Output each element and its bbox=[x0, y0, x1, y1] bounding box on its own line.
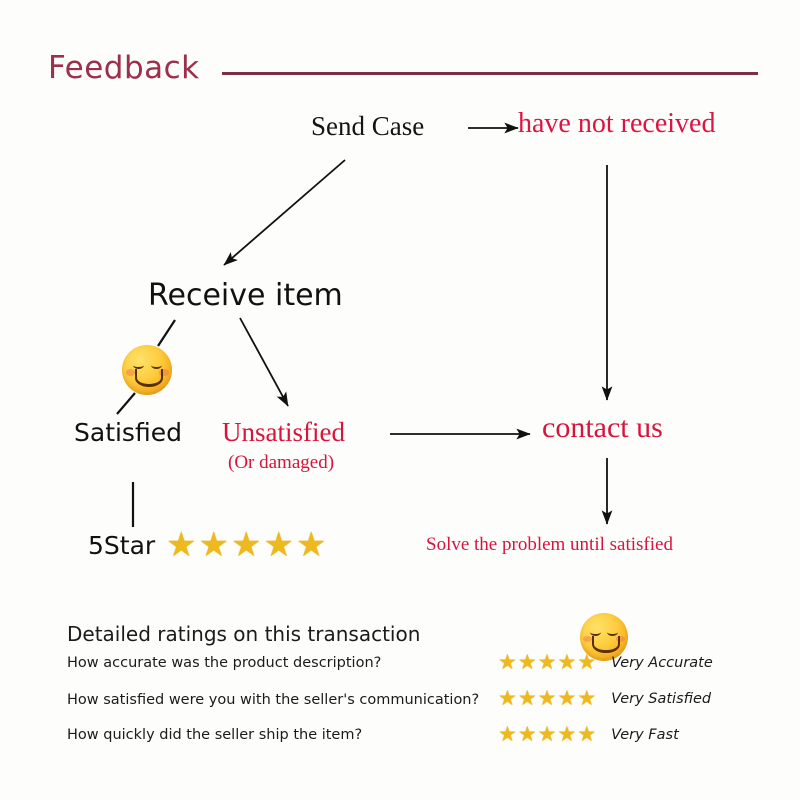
line-receive-to-emoji bbox=[158, 320, 175, 346]
rating-label: Very Satisfied bbox=[611, 691, 711, 707]
star-icon: ★ bbox=[557, 652, 576, 673]
node-contact-us: contact us bbox=[542, 411, 663, 445]
emoji-mouth bbox=[135, 369, 163, 387]
emoji-eye-left bbox=[133, 362, 144, 370]
star-icon: ★ bbox=[263, 528, 293, 562]
rating-question: How quickly did the seller ship the item… bbox=[67, 727, 362, 743]
emoji-eye-right bbox=[151, 362, 162, 370]
star-icon: ★ bbox=[231, 528, 261, 562]
star-icon: ★ bbox=[498, 688, 517, 709]
page-title: Feedback bbox=[48, 50, 200, 86]
line-emoji-to-satisfied bbox=[117, 393, 135, 414]
star-icon: ★ bbox=[296, 528, 326, 562]
star-icon: ★ bbox=[538, 652, 557, 673]
star-icon: ★ bbox=[198, 528, 228, 562]
star-icon: ★ bbox=[518, 724, 537, 745]
emoji-eye-left bbox=[590, 629, 601, 636]
title-divider-rule bbox=[222, 72, 758, 75]
emoji-cheek-left bbox=[126, 369, 136, 376]
star-icon: ★ bbox=[518, 688, 537, 709]
emoji-eye-right bbox=[607, 629, 618, 636]
node-have-not-received: have not received bbox=[518, 108, 715, 140]
star-icon: ★ bbox=[577, 724, 596, 745]
rating-row: ★★★★★ Very Accurate bbox=[498, 652, 713, 674]
emoji-cheek-left bbox=[583, 636, 592, 642]
arrow-sendcase-to-receive bbox=[224, 160, 345, 265]
rating-label: Very Accurate bbox=[611, 655, 713, 671]
star-icon: ★ bbox=[557, 724, 576, 745]
star-icon: ★ bbox=[498, 724, 517, 745]
rating-row: ★★★★★ Very Satisfied bbox=[498, 688, 711, 710]
rating-question: How satisfied were you with the seller's… bbox=[67, 692, 479, 708]
star-icon: ★ bbox=[538, 724, 557, 745]
detailed-ratings-heading: Detailed ratings on this transaction bbox=[67, 622, 420, 646]
five-star-rating: ★★★★★ bbox=[166, 528, 328, 562]
arrow-receive-to-unsatisfied bbox=[240, 318, 288, 406]
node-unsatisfied: Unsatisfied bbox=[222, 417, 345, 448]
node-5star-label: 5Star bbox=[88, 531, 155, 560]
emoji-mouth bbox=[592, 636, 619, 653]
smiling-face-emoji bbox=[122, 345, 172, 395]
node-unsatisfied-subtext: (Or damaged) bbox=[228, 452, 334, 474]
node-satisfied: Satisfied bbox=[74, 418, 182, 447]
star-icon: ★ bbox=[577, 652, 596, 673]
star-icon: ★ bbox=[498, 652, 517, 673]
rating-label: Very Fast bbox=[611, 727, 679, 743]
star-rating: ★★★★★ bbox=[498, 688, 597, 710]
star-rating: ★★★★★ bbox=[498, 652, 597, 674]
node-solve-the-problem: Solve the problem until satisfied bbox=[426, 534, 673, 556]
node-receive-item: Receive item bbox=[148, 278, 343, 313]
star-icon: ★ bbox=[538, 688, 557, 709]
star-rating: ★★★★★ bbox=[498, 724, 597, 746]
star-icon: ★ bbox=[518, 652, 537, 673]
star-icon: ★ bbox=[577, 688, 596, 709]
rating-row: ★★★★★ Very Fast bbox=[498, 724, 679, 746]
star-icon: ★ bbox=[166, 528, 196, 562]
rating-question: How accurate was the product description… bbox=[67, 655, 381, 671]
star-icon: ★ bbox=[557, 688, 576, 709]
node-send-case: Send Case bbox=[311, 111, 424, 142]
feedback-infographic: Feedback Send Case have not received Rec… bbox=[0, 0, 800, 800]
